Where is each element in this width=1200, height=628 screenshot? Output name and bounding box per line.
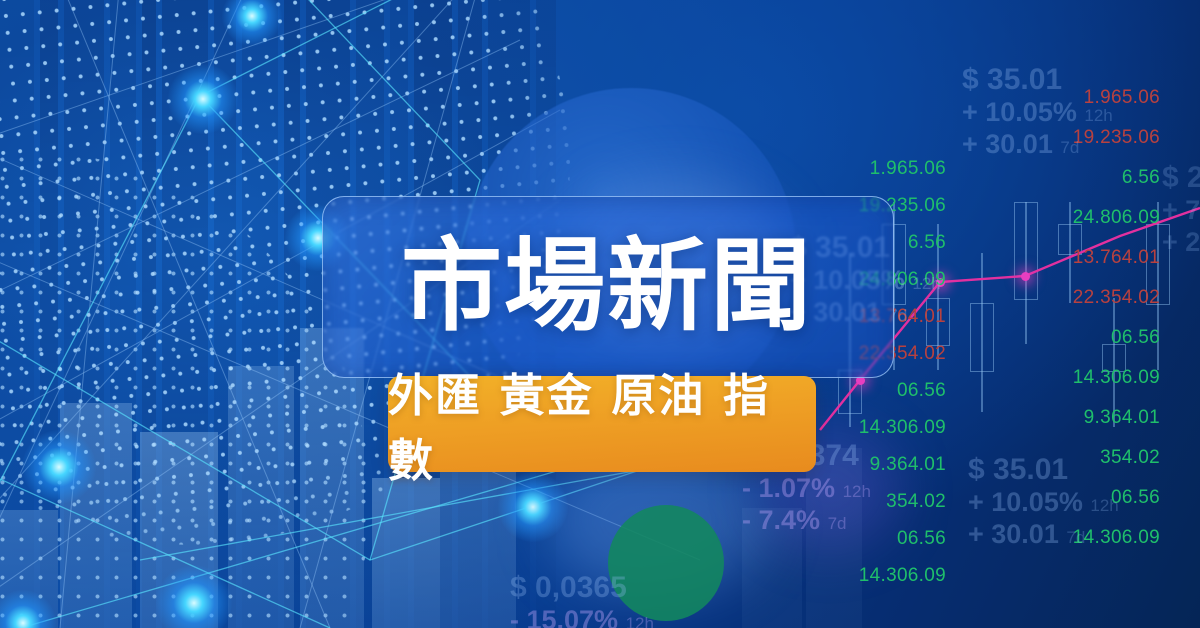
quote-value: 9.364.01 [1000,398,1160,438]
quote-value: 22.354.02 [1000,278,1160,318]
quote-value: 6.56 [1000,158,1160,198]
page-title: 市場新聞 [322,196,892,376]
price-watermark: $ 0,0365 - 15.07% 12h - 40.4% 7d [510,570,654,628]
quote-value: 14.306.09 [780,557,946,594]
quote-value: 1.965.06 [780,150,946,187]
category-badge-label: 外匯 黃金 原油 指數 [388,376,816,472]
quote-value: 13.764.01 [1000,238,1160,278]
price-watermark: $ 35.01 + 10.05% 12h + 30.01 7d [962,62,1113,161]
quote-value: 06.56 [1000,318,1160,358]
quote-value: 24.806.09 [1000,198,1160,238]
price-watermark: $ 2 + 7 + 2 [1162,160,1200,259]
quote-value: 14.306.09 [1000,358,1160,398]
market-news-banner: 1.965.0619.235.066.5624.806.0913.764.012… [0,0,1200,628]
price-watermark: $ 35.01 + 10.05% 12h + 30.01 7d [968,452,1119,551]
